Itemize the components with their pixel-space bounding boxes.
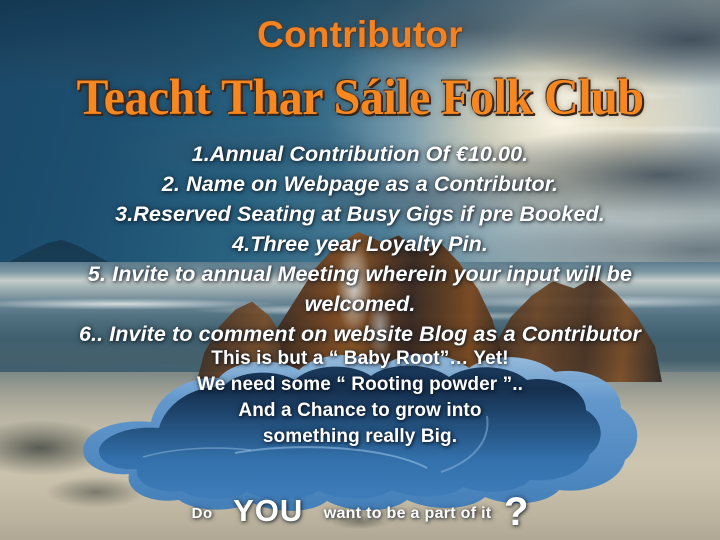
cloud-message-line-4: something really Big.	[130, 424, 590, 450]
benefit-item-4: 4.Three year Loyalty Pin.	[0, 229, 720, 259]
headline-club-name: Teacht Thar Sáile Folk Club	[0, 68, 720, 126]
headline-contributor: Contributor	[0, 14, 720, 56]
call-to-action: Do YOU want to be a part of it ?	[0, 483, 720, 528]
benefit-item-2: 2. Name on Webpage as a Contributor.	[0, 169, 720, 199]
poster-canvas: Contributor Teacht Thar Sáile Folk Club …	[0, 0, 720, 540]
cta-question-mark: ?	[504, 490, 528, 534]
cta-suffix: want to be a part of it	[324, 505, 492, 522]
cloud-message-line-1: This is but a “ Baby Root”… Yet!	[130, 346, 590, 372]
cloud-message-line-3: And a Chance to grow into	[130, 398, 590, 424]
cta-emphasis: YOU	[233, 493, 303, 528]
benefit-item-6: 6.. Invite to comment on website Blog as…	[0, 319, 720, 349]
cloud-message-line-2: We need some “ Rooting powder ”..	[130, 372, 590, 398]
benefits-list: 1.Annual Contribution Of €10.00. 2. Name…	[0, 139, 720, 349]
benefit-item-1: 1.Annual Contribution Of €10.00.	[0, 139, 720, 169]
cta-prefix: Do	[192, 505, 213, 522]
benefit-item-3: 3.Reserved Seating at Busy Gigs if pre B…	[0, 199, 720, 229]
cloud-message: This is but a “ Baby Root”… Yet! We need…	[130, 346, 590, 450]
benefit-item-5: 5. Invite to annual Meeting wherein your…	[0, 259, 720, 319]
